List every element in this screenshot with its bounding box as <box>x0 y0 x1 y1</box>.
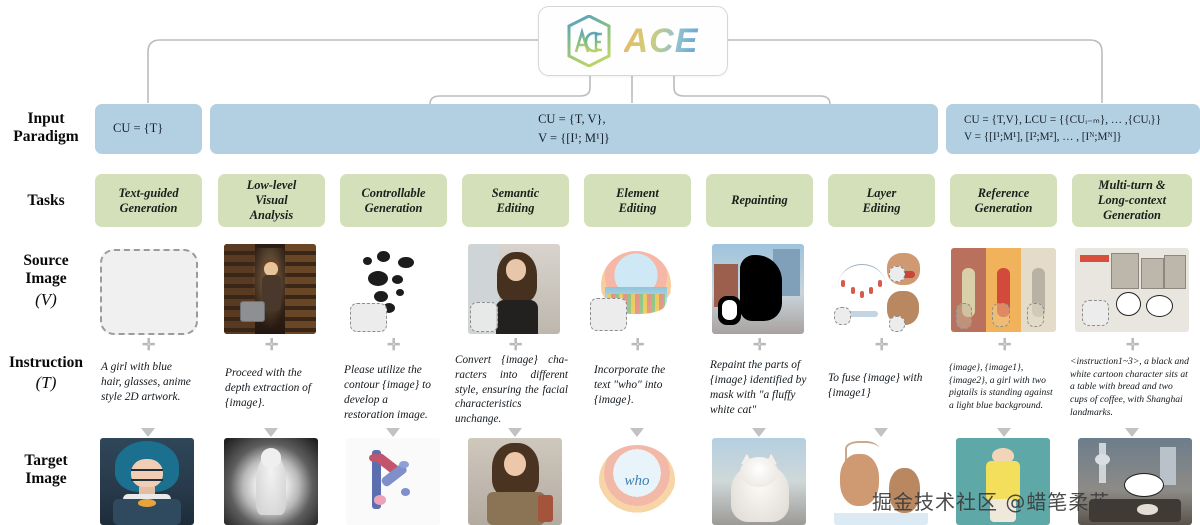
watermark-text: 掘金技术社区 @蜡笔柔花 <box>872 486 1110 515</box>
paradigm-box-single-visual: CU = {T, V}, V = {[I¹; M¹]} <box>210 104 938 154</box>
paradigm-box-text-only: CU = {T} <box>95 104 202 154</box>
ace-wordmark: ACE <box>624 24 701 58</box>
task-box-low-level-visual-analysis[interactable]: Low-levelVisualAnalysis <box>218 174 325 227</box>
task-box-element-editing[interactable]: ElementEditing <box>584 174 691 227</box>
task-box-text-guided-generation[interactable]: Text-guidedGeneration <box>95 174 202 227</box>
paradigm-formula-single-visual: CU = {T, V}, V = {[I¹; M¹]} <box>538 110 610 149</box>
connector-wires <box>0 0 1200 525</box>
task-label: Repainting <box>731 193 787 208</box>
paradigm-formula-long-context: CU = {T,V}, LCU = {{CUᵢ₋ₘ}, … ,{CUᵢ}} V … <box>946 112 1161 147</box>
task-label: ControllableGeneration <box>361 186 425 216</box>
task-label: LayerEditing <box>863 186 901 216</box>
task-box-multi-turn-long-context-generation[interactable]: Multi-turn &Long-contextGeneration <box>1072 174 1192 227</box>
ace-logo: ACE <box>538 6 728 76</box>
task-box-reference-generation[interactable]: ReferenceGeneration <box>950 174 1057 227</box>
task-box-controllable-generation[interactable]: ControllableGeneration <box>340 174 447 227</box>
task-label: Text-guidedGeneration <box>118 186 178 216</box>
task-label: Low-levelVisualAnalysis <box>247 178 297 223</box>
paradigm-formula-text-only: CU = {T} <box>95 119 163 138</box>
task-box-repainting[interactable]: Repainting <box>706 174 813 227</box>
task-label: ElementEditing <box>616 186 659 216</box>
task-box-semantic-editing[interactable]: SemanticEditing <box>462 174 569 227</box>
ace-hexagon-logo-icon <box>566 15 612 67</box>
task-label: ReferenceGeneration <box>975 186 1033 216</box>
figure-canvas: ACE Input Paradigm Tasks Source Image (V… <box>0 0 1200 525</box>
task-box-layer-editing[interactable]: LayerEditing <box>828 174 935 227</box>
task-label: SemanticEditing <box>492 186 540 216</box>
task-label: Multi-turn &Long-contextGeneration <box>1098 178 1166 223</box>
paradigm-box-long-context: CU = {T,V}, LCU = {{CUᵢ₋ₘ}, … ,{CUᵢ}} V … <box>946 104 1200 154</box>
